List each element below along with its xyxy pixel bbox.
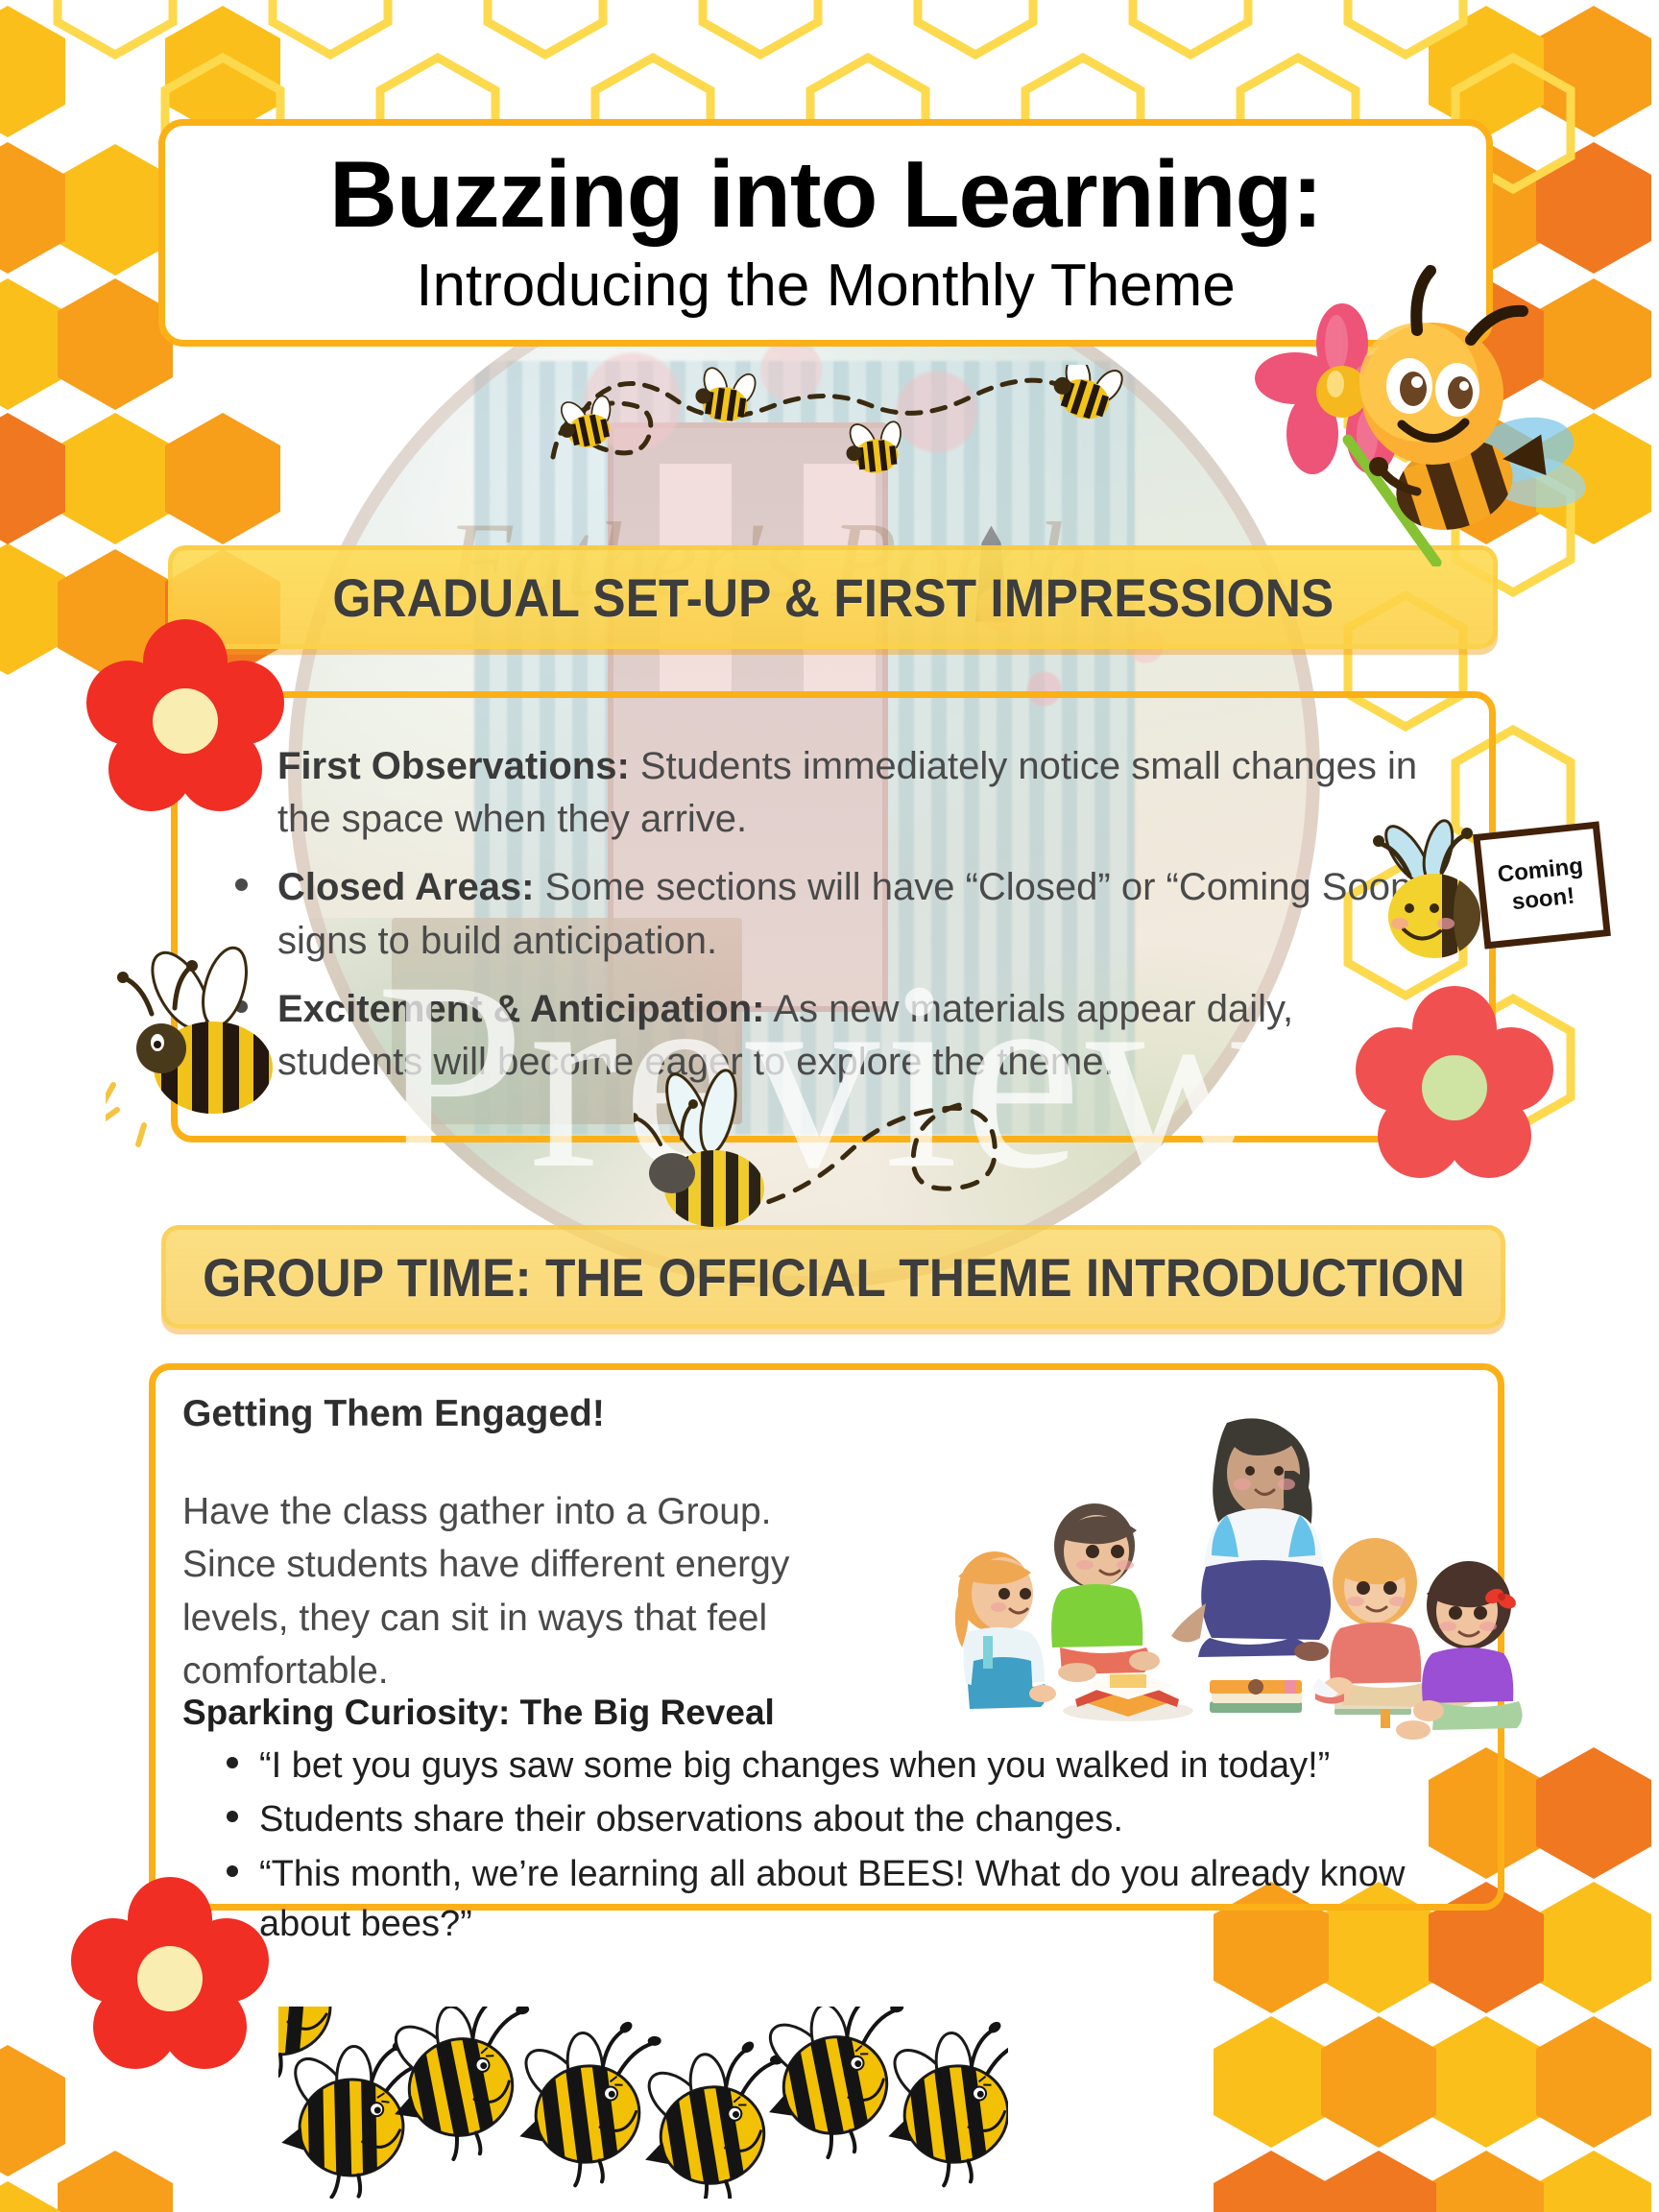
group-time-card: Getting Them Engaged! Have the class gat… — [149, 1363, 1504, 1911]
list-item: Closed Areas: Some sections will have “C… — [277, 861, 1437, 967]
title-card: Buzzing into Learning: Introducing the M… — [158, 119, 1493, 347]
list-item: “This month, we’re learning all about BE… — [213, 1849, 1490, 1950]
list-item: Students share their observations about … — [213, 1794, 1490, 1844]
coming-soon-line2: soon! — [1511, 883, 1576, 916]
bullet-lead: First Observations: — [277, 745, 630, 787]
page-subtitle: Introducing the Monthly Theme — [165, 253, 1486, 319]
poster-page: Father's Porch Buzzing into Learning: In… — [0, 0, 1659, 2212]
list-item: Excitement & Anticipation: As new materi… — [277, 983, 1437, 1089]
group-card-heading: Getting Them Engaged! — [182, 1393, 605, 1435]
bee-row-bottom — [278, 2007, 1008, 2199]
group-card-subheading: Sparking Curiosity: The Big Reveal — [182, 1693, 775, 1733]
first-impressions-card: First Observations: Students immediately… — [171, 691, 1496, 1142]
page-title: Buzzing into Learning: — [165, 145, 1486, 244]
first-impressions-list: First Observations: Students immediately… — [178, 698, 1489, 1089]
list-item: “I bet you guys saw some big changes whe… — [213, 1741, 1490, 1791]
section-banner-group-time: GROUP TIME: THE OFFICIAL THEME INTRODUCT… — [161, 1225, 1505, 1329]
coming-soon-text: Comingsoon! — [1496, 852, 1587, 918]
list-item: First Observations: Students immediately… — [277, 740, 1437, 846]
section-banner-gradual-setup: GRADUAL SET-UP & FIRST IMPRESSIONS — [168, 545, 1498, 649]
big-reveal-list: “I bet you guys saw some big changes whe… — [213, 1741, 1490, 1954]
section-banner-label: GRADUAL SET-UP & FIRST IMPRESSIONS — [332, 566, 1334, 629]
group-card-paragraph: Have the class gather into a Group. Sinc… — [182, 1485, 797, 1698]
bullet-lead: Closed Areas: — [277, 866, 535, 908]
section-banner-label: GROUP TIME: THE OFFICIAL THEME INTRODUCT… — [203, 1246, 1465, 1309]
bullet-lead: Excitement & Anticipation: — [277, 988, 764, 1030]
coming-soon-note: Comingsoon! — [1473, 821, 1611, 949]
